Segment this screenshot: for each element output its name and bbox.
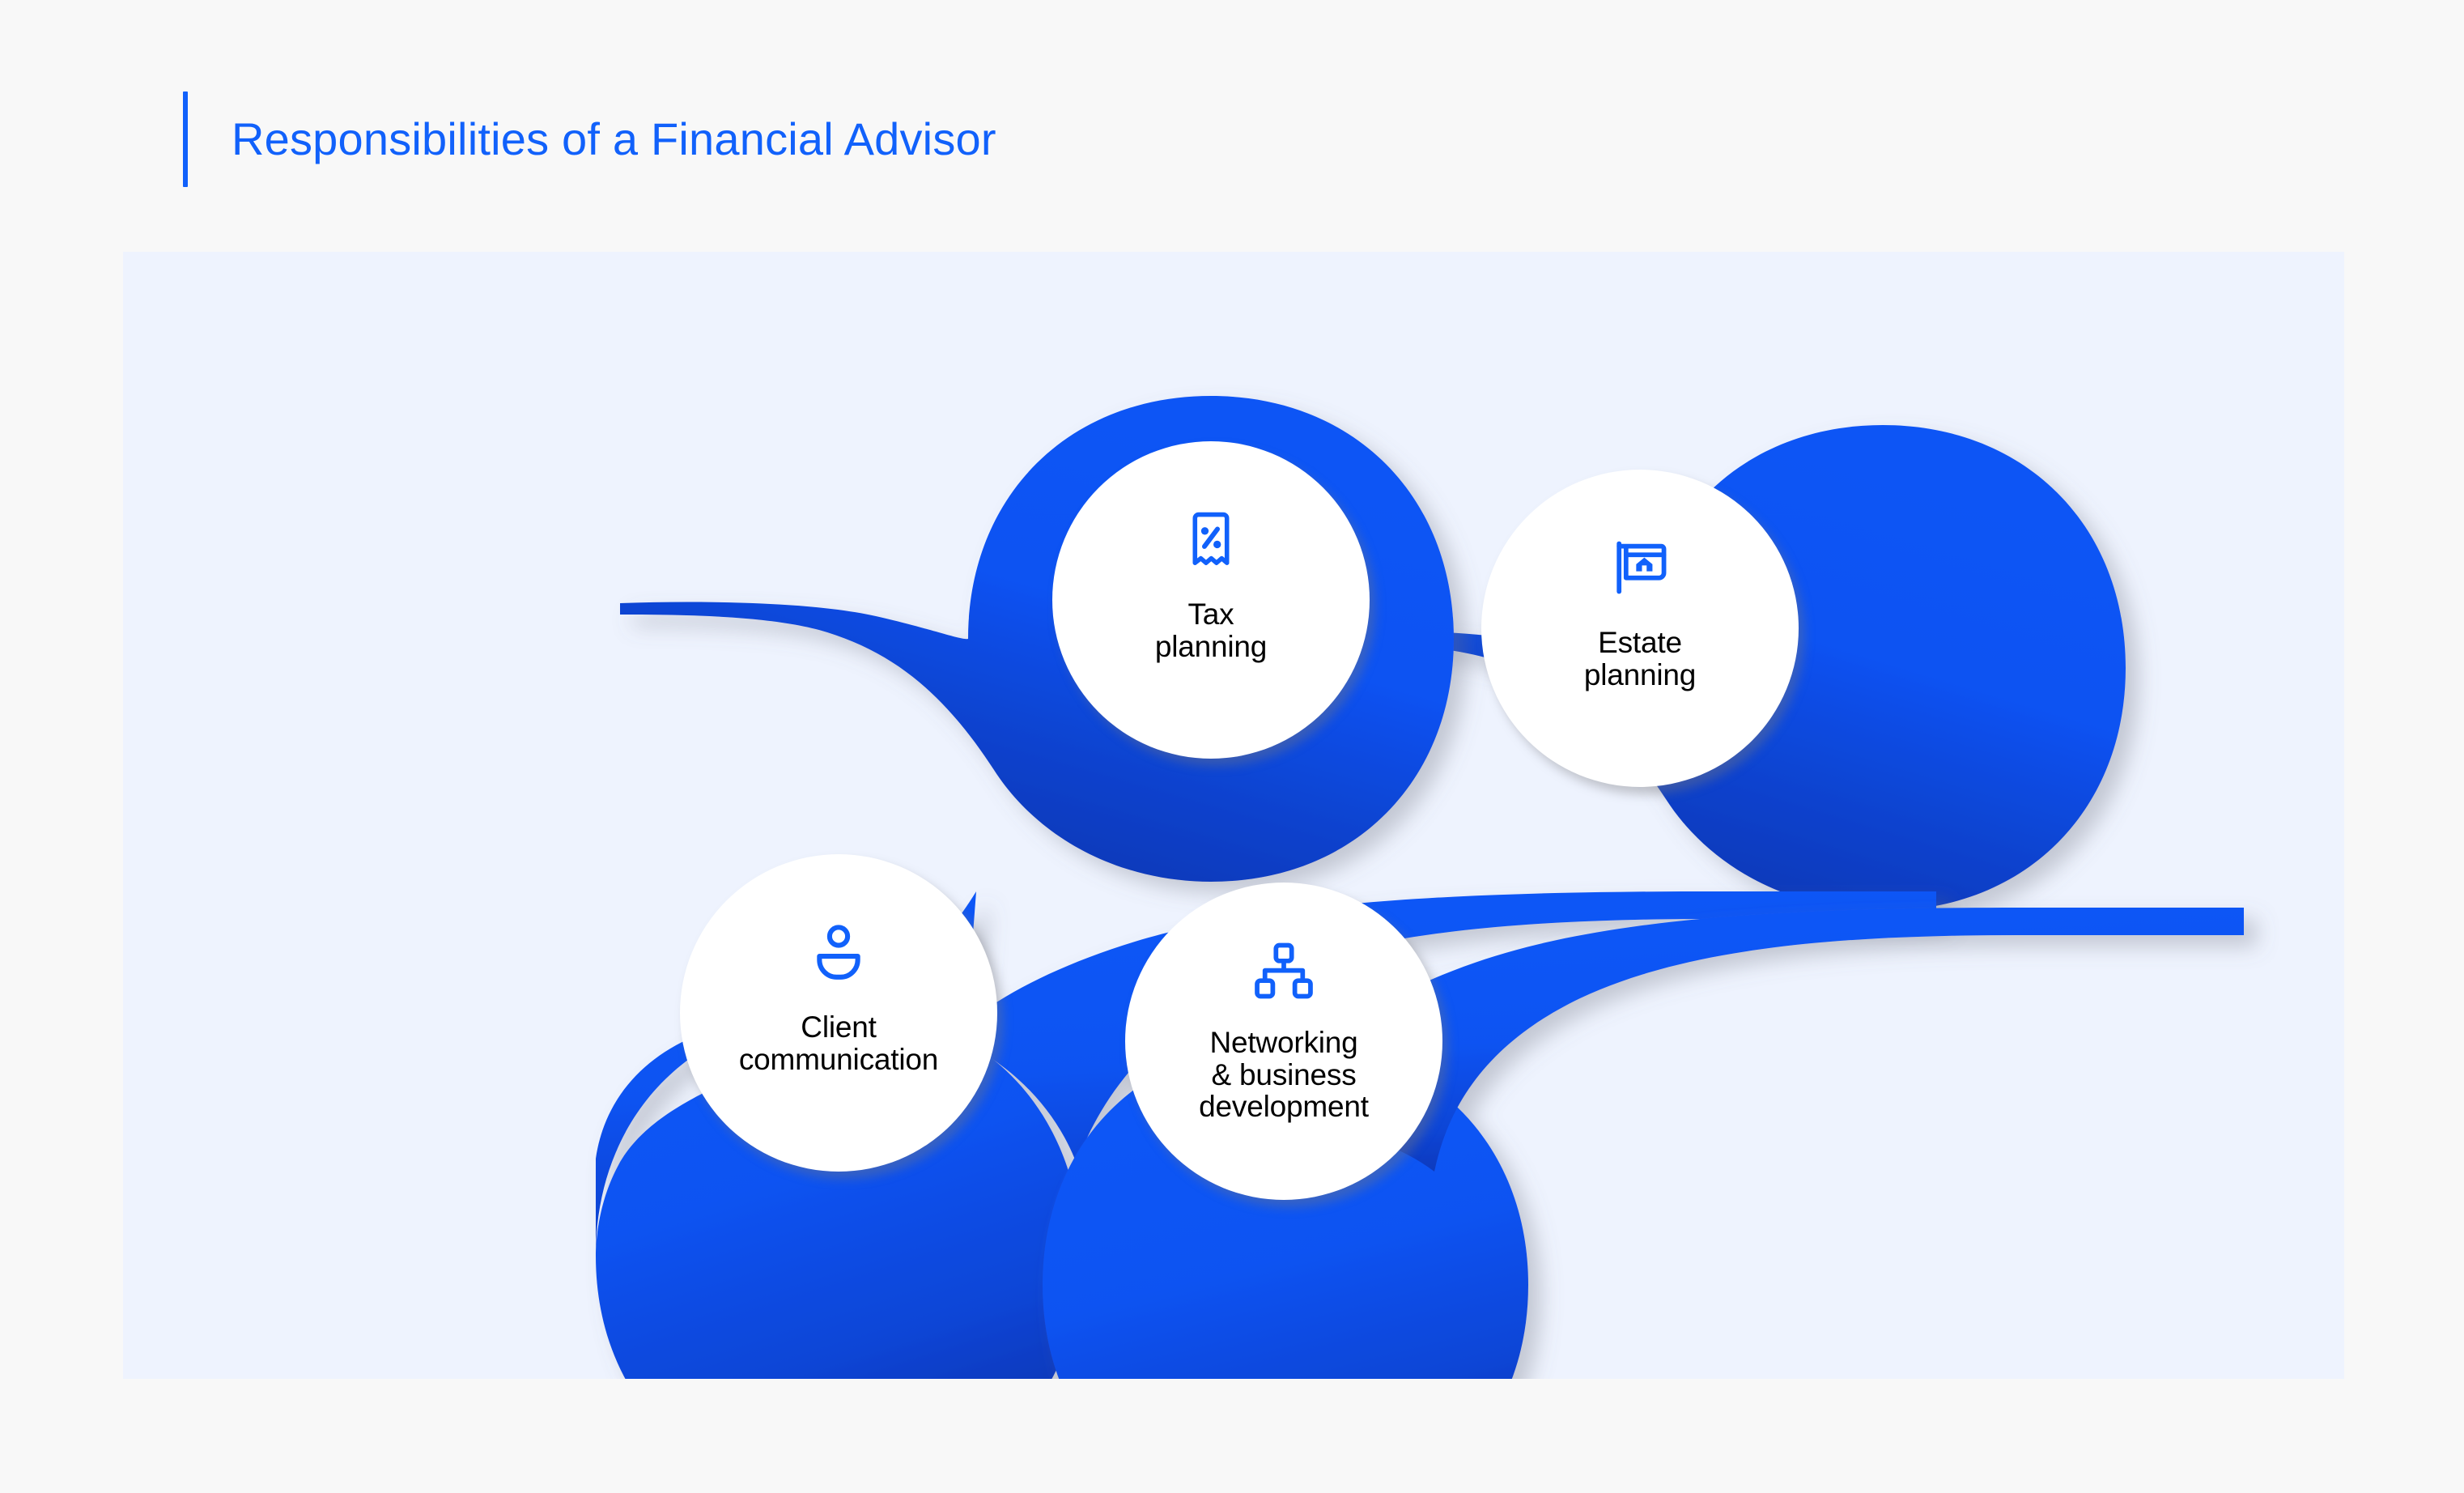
tax-receipt-percent-icon xyxy=(1176,504,1246,574)
estate-sign-house-icon xyxy=(1605,533,1675,602)
node-label: Tax planning xyxy=(1077,598,1345,662)
node-label-line: communication xyxy=(705,1044,972,1076)
node-networking-business-development[interactable]: Networking & business development xyxy=(1125,883,1442,1200)
node-label-line: planning xyxy=(1077,631,1345,663)
node-tax-planning[interactable]: Tax planning xyxy=(1052,441,1370,759)
node-label-line: development xyxy=(1150,1091,1417,1123)
node-estate-planning[interactable]: Estate planning xyxy=(1481,470,1799,787)
node-label: Estate planning xyxy=(1506,627,1774,691)
teardrop-shapes xyxy=(123,252,2344,1379)
node-label-line: Client xyxy=(705,1011,972,1044)
infographic-page: Responsibilities of a Financial Advisor xyxy=(0,0,2464,1493)
page-title-block: Responsibilities of a Financial Advisor xyxy=(183,91,996,188)
org-chart-hierarchy-icon xyxy=(1249,936,1319,1006)
node-label-line: planning xyxy=(1506,659,1774,691)
node-label-line: Networking xyxy=(1150,1027,1417,1059)
node-label-line: & business xyxy=(1150,1059,1417,1091)
title-accent-bar xyxy=(183,91,188,187)
node-label: Client communication xyxy=(705,1011,972,1075)
node-label-line: Tax xyxy=(1077,598,1345,631)
node-label-line: Estate xyxy=(1506,627,1774,659)
node-client-communication[interactable]: Client communication xyxy=(680,854,997,1172)
page-title: Responsibilities of a Financial Advisor xyxy=(232,117,996,162)
diagram-panel: Tax planning Estate planning xyxy=(123,252,2344,1379)
node-label: Networking & business development xyxy=(1150,1027,1417,1123)
person-user-icon xyxy=(804,917,873,987)
